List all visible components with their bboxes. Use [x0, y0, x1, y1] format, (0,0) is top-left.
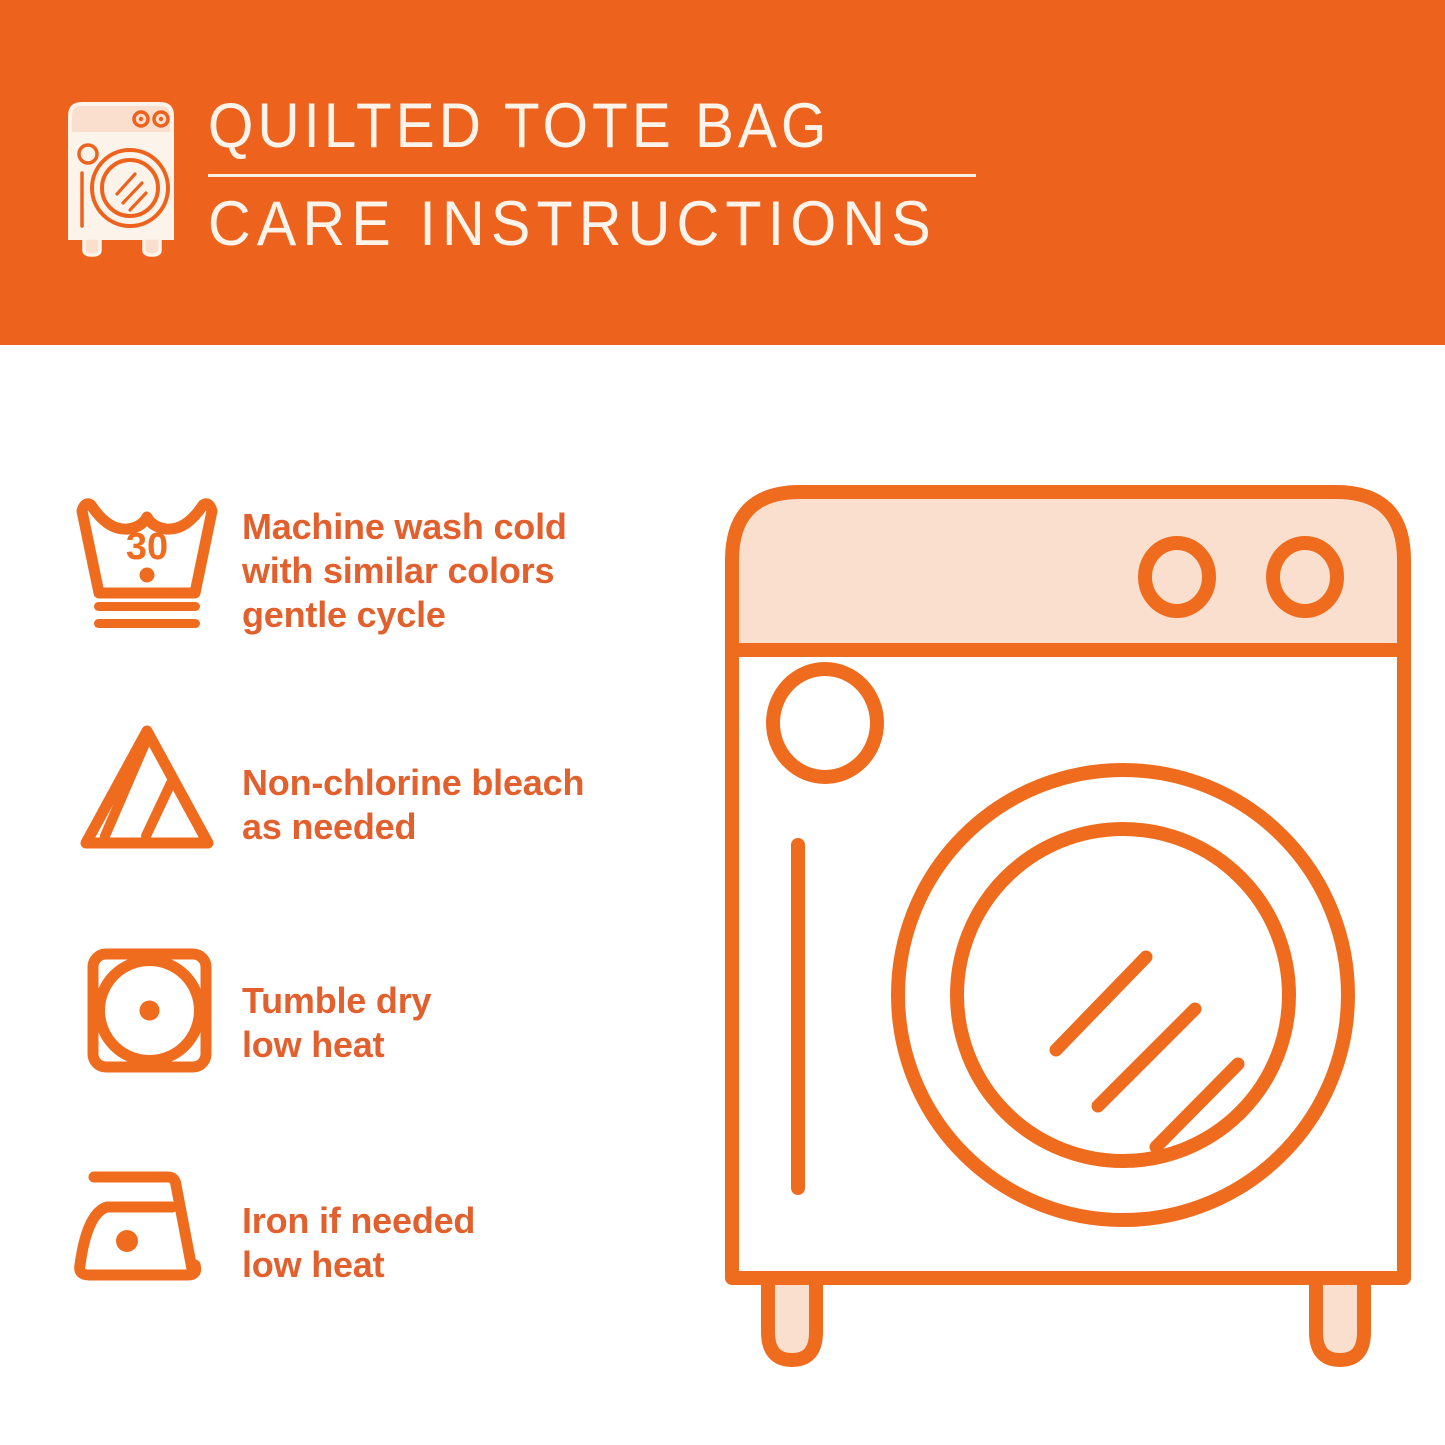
- front-load-washing-machine-illustration: [718, 470, 1418, 1380]
- care-row-bleach: Non-chlorine bleach as needed: [72, 717, 584, 857]
- page-title: QUILTED TOTE BAG: [206, 92, 929, 160]
- care-text-wash: Machine wash cold with similar colors ge…: [232, 493, 567, 637]
- care-text-iron: Iron if needed low heat: [232, 1155, 475, 1287]
- care-instruction-list: 30 Machine wash cold with similar colors…: [0, 345, 700, 1445]
- care-row-iron: Iron if needed low heat: [72, 1155, 475, 1295]
- machine-leg-left: [768, 1278, 816, 1360]
- wash-temperature-value: 30: [126, 526, 168, 568]
- care-text-tumble-dry: Tumble dry low heat: [232, 941, 431, 1067]
- control-panel: [732, 492, 1404, 650]
- wash-tub-30-gentle-icon: 30: [72, 493, 232, 633]
- care-row-wash: 30 Machine wash cold with similar colors…: [72, 493, 567, 637]
- header-banner: QUILTED TOTE BAG CARE INSTRUCTIONS: [0, 0, 1445, 345]
- bleach-triangle-striped-icon: [72, 717, 232, 857]
- page-subtitle: CARE INSTRUCTIONS: [206, 191, 937, 257]
- header-content: QUILTED TOTE BAG CARE INSTRUCTIONS: [62, 92, 984, 258]
- care-row-tumble-dry: Tumble dry low heat: [72, 941, 431, 1081]
- machine-body: [732, 650, 1404, 1278]
- care-text-bleach: Non-chlorine bleach as needed: [232, 717, 584, 849]
- header-divider: [208, 174, 976, 177]
- iron-low-heat-icon: [72, 1155, 232, 1295]
- washing-machine-icon: [62, 98, 180, 258]
- tumble-dry-low-icon: [72, 941, 232, 1081]
- machine-leg-right: [1316, 1278, 1364, 1360]
- header-text-block: QUILTED TOTE BAG CARE INSTRUCTIONS: [206, 92, 984, 257]
